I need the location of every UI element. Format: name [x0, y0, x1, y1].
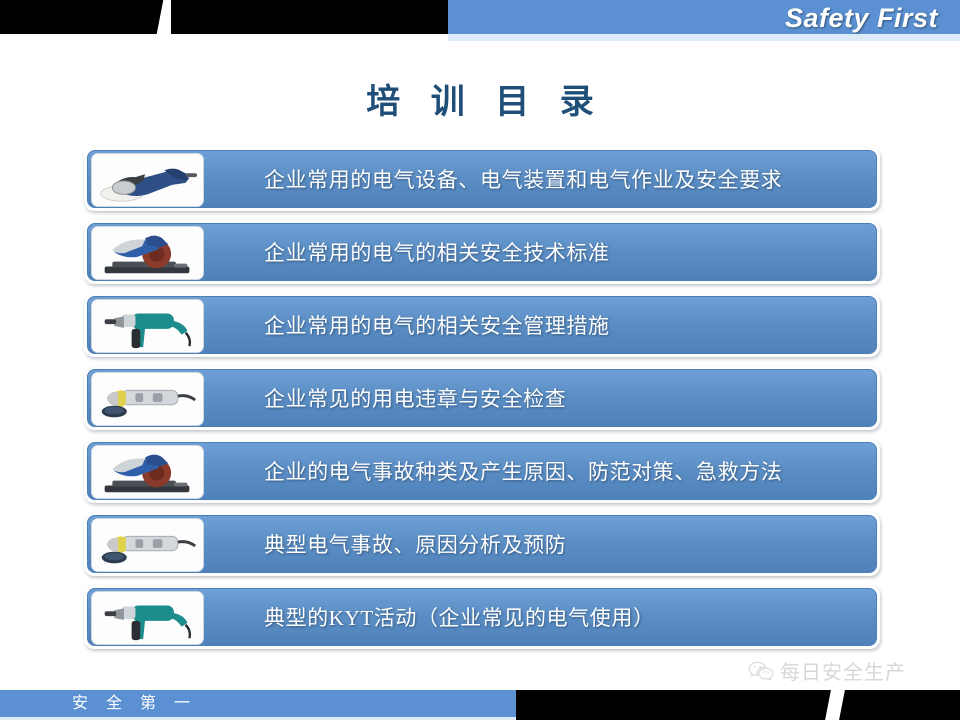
- header-bar: Safety First: [0, 0, 960, 34]
- list-item[interactable]: 企业常用的电气的相关安全管理措施: [84, 293, 880, 357]
- impact-drill-icon: [91, 299, 204, 353]
- page-title: 培 训 目 录: [0, 74, 960, 123]
- angle-grinder-icon: [91, 518, 204, 572]
- list-item-label: 企业常用的电气设备、电气装置和电气作业及安全要求: [264, 164, 782, 194]
- list-item-label: 典型电气事故、原因分析及预防: [264, 529, 566, 559]
- chop-saw-icon: [91, 445, 204, 499]
- footer-black-segment: [516, 690, 960, 720]
- header-banner-title: Safety First: [785, 1, 938, 35]
- list-item-body: 典型的KYT活动（企业常见的电气使用）: [87, 588, 877, 646]
- list-item[interactable]: 典型电气事故、原因分析及预防: [84, 512, 880, 576]
- list-item-body: 企业常用的电气设备、电气装置和电气作业及安全要求: [87, 150, 877, 208]
- list-item-body: 企业常用的电气的相关安全技术标准: [87, 223, 877, 281]
- list-item[interactable]: 企业常见的用电违章与安全检查: [84, 366, 880, 430]
- wechat-icon: [748, 660, 774, 682]
- list-item-body: 企业常见的用电违章与安全检查: [87, 369, 877, 427]
- list-item-label: 典型的KYT活动（企业常见的电气使用）: [264, 602, 655, 632]
- list-item-label: 企业的电气事故种类及产生原因、防范对策、急救方法: [264, 456, 782, 486]
- chop-saw-icon: [91, 226, 204, 280]
- impact-drill-icon: [91, 591, 204, 645]
- list-item-body: 企业的电气事故种类及产生原因、防范对策、急救方法: [87, 442, 877, 500]
- header-blue-shadow-strip: [448, 34, 960, 41]
- watermark: 每日安全生产: [748, 656, 906, 685]
- list-item-body: 典型电气事故、原因分析及预防: [87, 515, 877, 573]
- list-item-body: 企业常用的电气的相关安全管理措施: [87, 296, 877, 354]
- header-black-segment-right: [171, 0, 448, 34]
- contents-list: 企业常用的电气设备、电气装置和电气作业及安全要求: [84, 147, 880, 658]
- header-black-segment-left: [0, 0, 165, 34]
- angle-grinder-icon: [91, 372, 204, 426]
- footer-slogan: 安 全 第 一: [72, 690, 197, 717]
- list-item[interactable]: 典型的KYT活动（企业常见的电气使用）: [84, 585, 880, 649]
- list-item-label: 企业常用的电气的相关安全技术标准: [264, 237, 610, 267]
- list-item[interactable]: 企业的电气事故种类及产生原因、防范对策、急救方法: [84, 439, 880, 503]
- footer-bar: 安 全 第 一: [0, 690, 960, 720]
- list-item-label: 企业常见的用电违章与安全检查: [264, 383, 566, 413]
- watermark-text: 每日安全生产: [780, 656, 906, 685]
- angle-polisher-icon: [91, 153, 204, 207]
- slide-canvas: Safety First 培 训 目 录 企业常用的电气设: [0, 0, 960, 720]
- list-item[interactable]: 企业常用的电气设备、电气装置和电气作业及安全要求: [84, 147, 880, 211]
- list-item-label: 企业常用的电气的相关安全管理措施: [264, 310, 610, 340]
- list-item[interactable]: 企业常用的电气的相关安全技术标准: [84, 220, 880, 284]
